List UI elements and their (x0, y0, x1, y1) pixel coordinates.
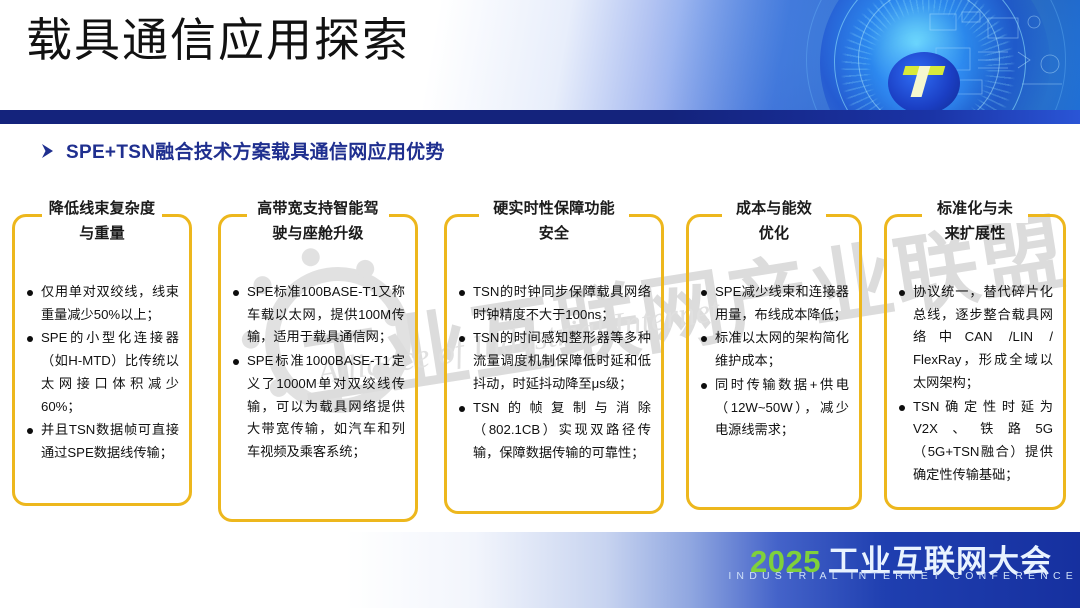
section-subtitle-text: SPE+TSN融合技术方案载具通信网应用优势 (66, 137, 445, 164)
card-2-bullet-list: SPE标准100BASE-T1又称车载以太网，提供100M传输，适用于载具通信网… (227, 281, 409, 465)
list-item: 并且TSN数据帧可直接通过SPE数据线传输； (41, 419, 179, 464)
card-4-title-line1: 成本与能效 (730, 197, 818, 220)
slide: 载具通信应用探索 SPE+TSN融合技术方案载具通信网应用优势 工业互联网产业联… (0, 0, 1080, 608)
advantage-card-4[interactable]: 成本与能效 优化 SPE减少线束和连接器用量，布线成本降低； 标准以太网的架构简… (686, 214, 862, 510)
card-5-title: 标准化与未 来扩展性 (887, 197, 1063, 246)
list-item: TSN的帧复制与消除（802.1CB）实现双路径传输，保障数据传输的可靠性； (473, 397, 651, 465)
list-item: SPE标准100BASE-T1又称车载以太网，提供100M传输，适用于载具通信网… (247, 281, 405, 349)
card-1-title-line2: 与重量 (15, 222, 189, 245)
section-subtitle: SPE+TSN融合技术方案载具通信网应用优势 (40, 137, 445, 164)
list-item: SPE的小型化连接器（如H-MTD）比传统以太网接口体积减少60%； (41, 327, 179, 418)
card-1-bullet-list: 仅用单对双绞线，线束重量减少50%以上； SPE的小型化连接器（如H-MTD）比… (21, 281, 183, 466)
card-4-bullet-list: SPE减少线束和连接器用量，布线成本降低； 标准以太网的架构简化维护成本； 同时… (695, 281, 853, 443)
list-item: 仅用单对双绞线，线束重量减少50%以上； (41, 281, 179, 326)
card-3-bullet-list: TSN的时钟同步保障载具网络时钟精度不大于100ns； TSN的时间感知整形器等… (453, 281, 655, 466)
card-1-title-line1: 降低线束复杂度 (43, 197, 161, 220)
chevron-right-arrow-icon (40, 142, 56, 160)
list-item: TSN确定性时延为V2X、铁路5G（5G+TSN融合）提供确定性传输基础； (913, 396, 1053, 487)
advantage-card-1[interactable]: 降低线束复杂度 与重量 仅用单对双绞线，线束重量减少50%以上； SPE的小型化… (12, 214, 192, 506)
card-2-title-line2: 驶与座舱升级 (221, 222, 415, 245)
list-item: TSN的时间感知整形器等多种流量调度机制保障低时延和低抖动，时延抖动降至μs级； (473, 327, 651, 395)
card-2-title: 高带宽支持智能驾 驶与座舱升级 (221, 197, 415, 246)
slide-header: 载具通信应用探索 (0, 0, 1080, 110)
card-2-title-line1: 高带宽支持智能驾 (251, 197, 385, 220)
list-item: TSN的时钟同步保障载具网络时钟精度不大于100ns； (473, 281, 651, 326)
conference-logo-en: INDUSTRIAL INTERNET CONFERENCE (728, 570, 1078, 582)
list-item: 标准以太网的架构简化维护成本； (715, 327, 849, 372)
card-4-title-line2: 优化 (689, 222, 859, 245)
list-item: SPE标准1000BASE-T1定义了1000M单对双绞线传输，可以为载具网络提… (247, 350, 405, 464)
slide-footer: 2025 工业互联网大会 INDUSTRIAL INTERNET CONFERE… (0, 532, 1080, 608)
card-3-title: 硬实时性保障功能 安全 (447, 197, 661, 246)
card-5-title-line2: 来扩展性 (887, 222, 1063, 245)
advantage-card-3[interactable]: 硬实时性保障功能 安全 TSN的时钟同步保障载具网络时钟精度不大于100ns； … (444, 214, 664, 514)
advantage-card-2[interactable]: 高带宽支持智能驾 驶与座舱升级 SPE标准100BASE-T1又称车载以太网，提… (218, 214, 418, 522)
advantage-card-row: 降低线束复杂度 与重量 仅用单对双绞线，线束重量减少50%以上； SPE的小型化… (0, 186, 1080, 506)
card-1-title: 降低线束复杂度 与重量 (15, 197, 189, 246)
list-item: SPE减少线束和连接器用量，布线成本降低； (715, 281, 849, 326)
list-item: 同时传输数据+供电（12W~50W），减少电源线需求； (715, 374, 849, 442)
conference-t-logo-icon (888, 52, 960, 110)
list-item: 协议统一，替代碎片化总线，逐步整合载具网络中CAN /LIN / FlexRay… (913, 281, 1053, 395)
card-3-title-line2: 安全 (447, 222, 661, 245)
header-divider-bar (0, 110, 1080, 124)
card-3-title-line1: 硬实时性保障功能 (487, 197, 621, 220)
card-5-bullet-list: 协议统一，替代碎片化总线，逐步整合载具网络中CAN /LIN / FlexRay… (893, 281, 1057, 487)
page-title: 载具通信应用探索 (26, 18, 410, 64)
card-5-title-line1: 标准化与未 (931, 197, 1019, 220)
advantage-card-5[interactable]: 标准化与未 来扩展性 协议统一，替代碎片化总线，逐步整合载具网络中CAN /LI… (884, 214, 1066, 510)
card-4-title: 成本与能效 优化 (689, 197, 859, 246)
